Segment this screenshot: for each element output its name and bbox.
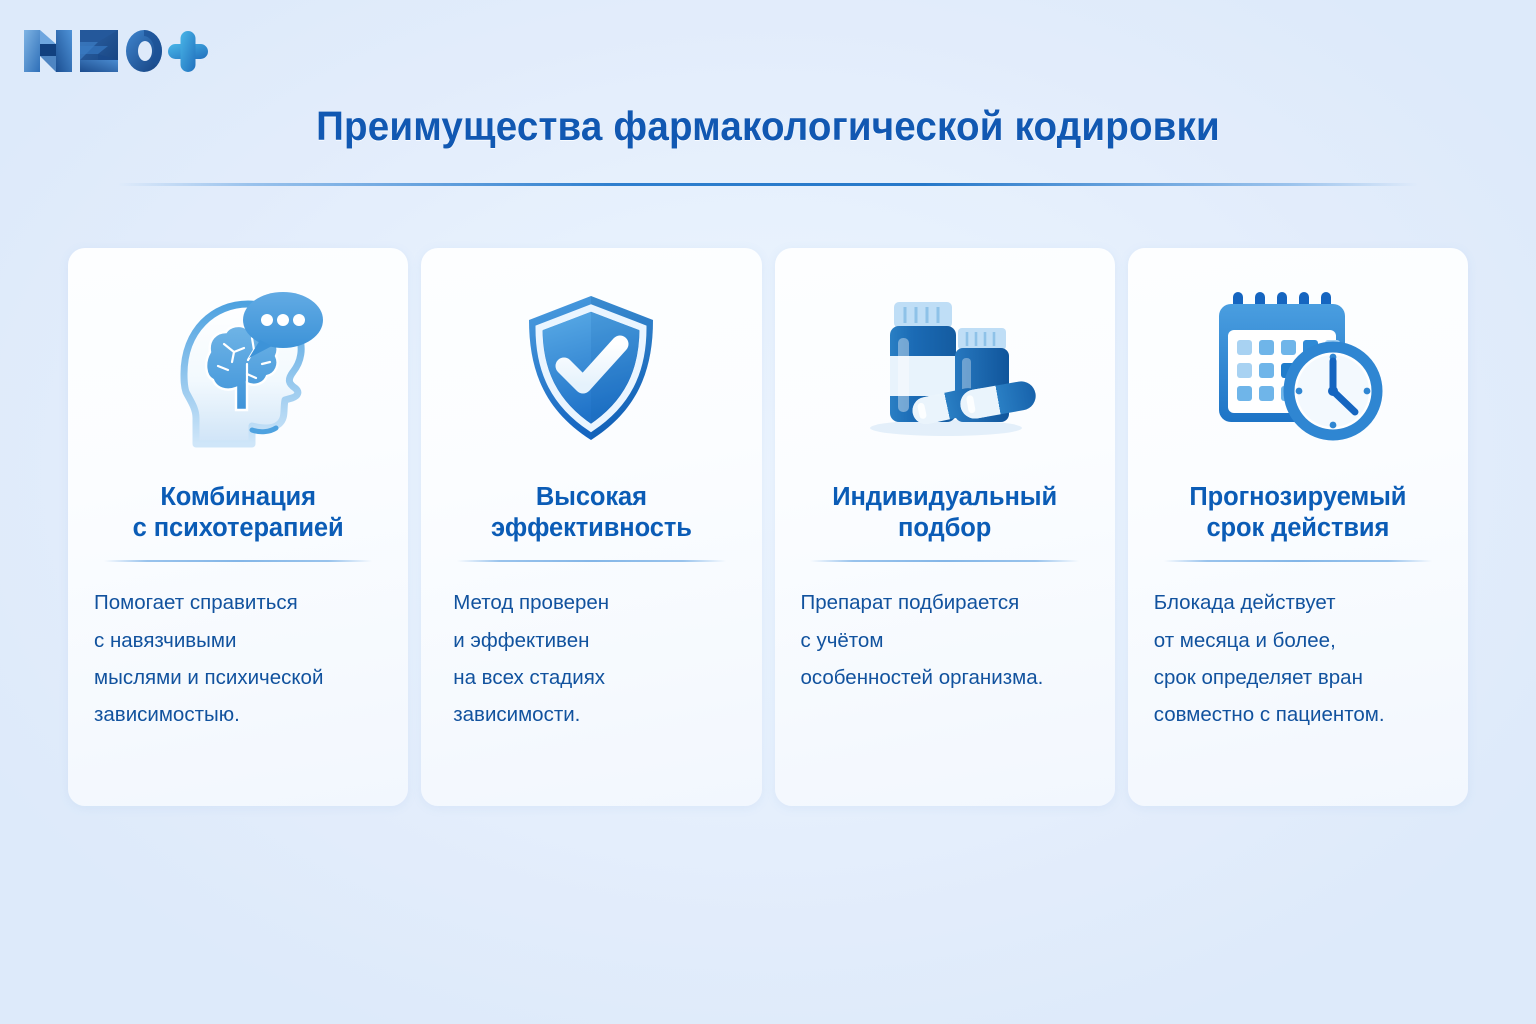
card-body-text: Блокада действует от месяца и более, сро… (1142, 584, 1454, 733)
logo-letter-e (80, 30, 118, 72)
page-title: Преимущества фармакологической кодировки (46, 104, 1490, 149)
benefit-card-combination[interactable]: Комбинация с психотерапией Помогает спра… (68, 248, 408, 806)
pill-bottles-capsules-icon (850, 278, 1040, 458)
card-divider (810, 560, 1079, 562)
card-title: Высокая эффективность (491, 482, 692, 544)
neo-plus-logo (18, 20, 208, 82)
card-title: Прогнозируемый срок действия (1189, 482, 1406, 544)
shield-check-icon (501, 278, 681, 458)
benefits-card-grid: Комбинация с психотерапией Помогает спра… (68, 248, 1468, 806)
card-title: Комбинация с психотерапией (133, 482, 344, 544)
infographic-page: Преимущества фармакологической кодировки (0, 0, 1536, 1024)
logo-plus-icon (168, 31, 208, 72)
title-divider (118, 183, 1418, 186)
card-body-text: Помогает справиться с навязчивыми мыслям… (82, 584, 394, 733)
head-brain-speech-bubble-icon (148, 278, 328, 458)
benefit-card-individual-selection[interactable]: Индивидуальный подбор Препарат подбирает… (775, 248, 1115, 806)
card-body-text: Метод проверен и эффективен на всех стад… (435, 584, 747, 733)
icon-container (501, 262, 681, 474)
page-title-container: Преимущества фармакологической кодировки (0, 104, 1536, 149)
benefit-card-effectiveness[interactable]: Высокая эффективность Метод проверен и э… (421, 248, 761, 806)
icon-container (850, 262, 1040, 474)
icon-container (148, 262, 328, 474)
logo-letter-n (24, 30, 72, 72)
logo-svg (18, 20, 208, 82)
calendar-clock-icon (1203, 278, 1393, 458)
card-divider (1164, 560, 1433, 562)
logo-letter-o (126, 30, 162, 72)
card-title: Индивидуальный подбор (832, 482, 1057, 544)
card-body-text: Препарат подбирается с учётом особенност… (789, 584, 1101, 696)
card-divider (104, 560, 373, 562)
clock-face (1284, 342, 1382, 440)
benefit-card-predictable-duration[interactable]: Прогнозируемый срок действия Блокада дей… (1128, 248, 1468, 806)
icon-container (1203, 262, 1393, 474)
card-divider (457, 560, 726, 562)
